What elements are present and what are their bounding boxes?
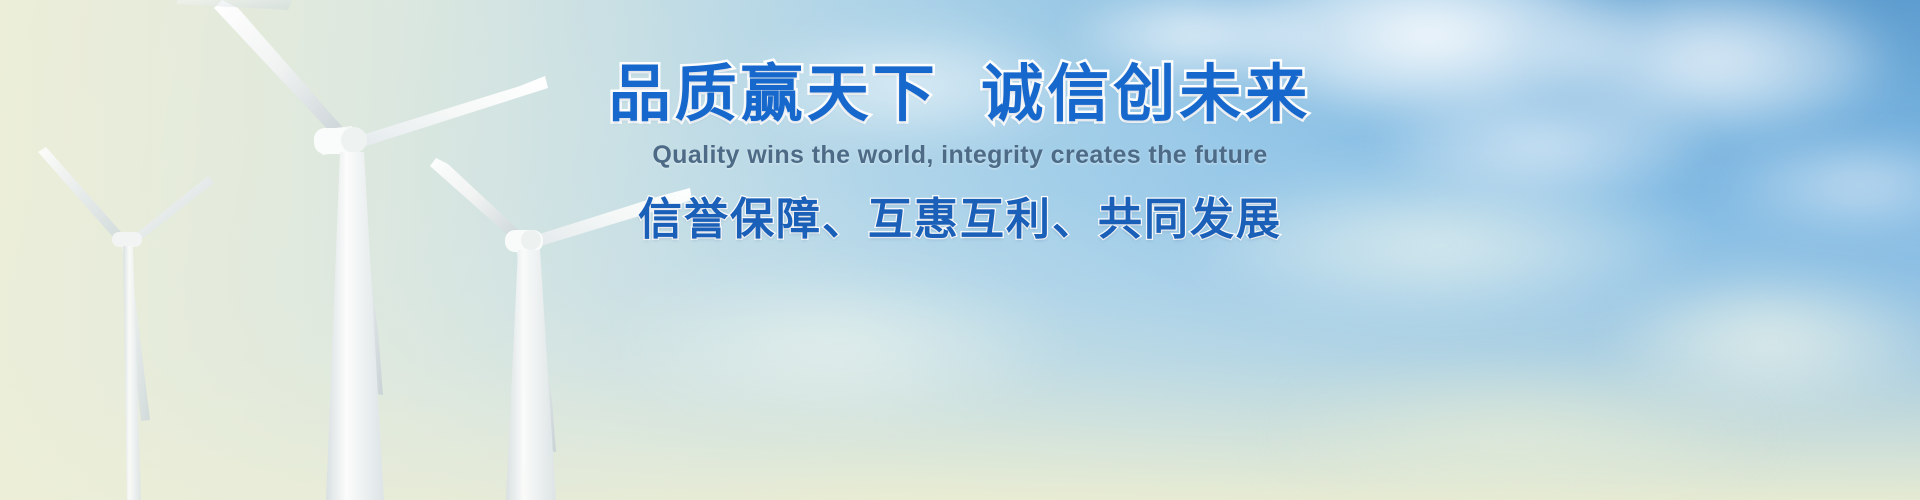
promo-banner: 品质赢天下 诚信创未来 Quality wins the world, inte…: [0, 0, 1920, 500]
banner-subtitle-english: Quality wins the world, integrity create…: [0, 143, 1920, 168]
banner-headline: 品质赢天下 诚信创未来: [0, 64, 1920, 126]
banner-tagline: 信誉保障、互惠互利、共同发展: [0, 198, 1920, 242]
